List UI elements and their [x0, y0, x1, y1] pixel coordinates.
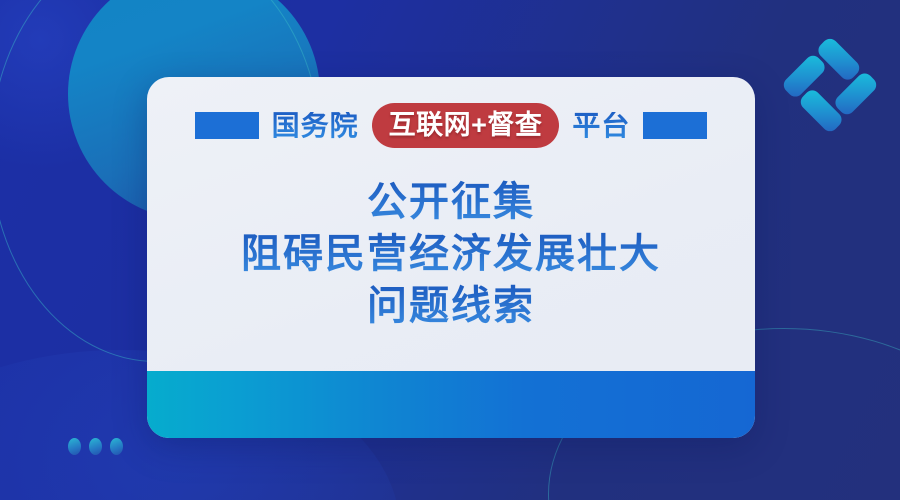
dot-2	[89, 438, 102, 455]
header-word-right: 平台	[572, 112, 630, 140]
header-word-left: 国务院	[272, 112, 359, 140]
title-line-1: 公开征集	[241, 176, 661, 228]
dot-3	[110, 438, 123, 455]
platform-header: 国务院 互联网+督查 平台	[195, 103, 708, 148]
dot-1	[68, 438, 81, 455]
pinwheel-bar-right	[832, 70, 879, 117]
title-line-2: 阻碍民营经济发展壮大	[241, 228, 661, 280]
card-footer-bar	[147, 371, 755, 438]
title-line-3: 问题线索	[241, 280, 661, 332]
poster-root: 国务院 互联网+督查 平台 公开征集 阻碍民营经济发展壮大 问题线索	[0, 0, 900, 500]
pinwheel-diamond-icon	[781, 36, 880, 135]
header-badge: 互联网+督查	[372, 103, 560, 148]
header-bar-right	[643, 112, 707, 139]
page-title: 公开征集 阻碍民营经济发展壮大 问题线索	[241, 176, 661, 332]
pinwheel-bar-top	[815, 36, 862, 83]
three-dots-icon	[68, 438, 123, 455]
pinwheel-bar-left	[781, 52, 828, 99]
main-card: 国务院 互联网+督查 平台 公开征集 阻碍民营经济发展壮大 问题线索	[147, 77, 755, 438]
header-bar-left	[195, 112, 259, 139]
card-body: 国务院 互联网+督查 平台 公开征集 阻碍民营经济发展壮大 问题线索	[147, 77, 755, 371]
pinwheel-bar-bottom	[797, 87, 844, 134]
